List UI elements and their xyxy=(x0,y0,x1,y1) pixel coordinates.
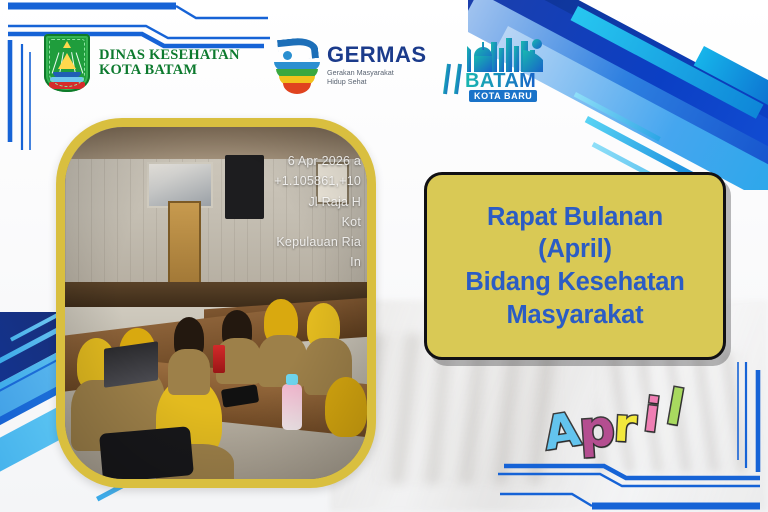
germas-tagline-1: Gerakan Masyarakat xyxy=(327,68,427,77)
logo-dinas-kesehatan: DINAS KESEHATAN KOTA BATAM xyxy=(44,34,240,92)
germas-tagline-2: Hidup Sehat xyxy=(327,77,427,86)
title-card: Rapat Bulanan (April) Bidang Kesehatan M… xyxy=(424,172,726,360)
april-letter: p xyxy=(577,399,617,459)
batam-wordmark: BATAM xyxy=(465,71,536,91)
april-letter: r xyxy=(613,397,638,452)
germas-figure-icon xyxy=(274,36,320,94)
logo-germas: GERMAS Gerakan Masyarakat Hidup Sehat xyxy=(274,36,427,94)
germas-title: GERMAS xyxy=(327,44,427,66)
batam-tagline: KOTA BARU xyxy=(469,90,537,102)
hashtag-icon xyxy=(441,62,467,96)
logo-batam-kota-baru: BATAM KOTA BARU xyxy=(439,36,549,102)
meeting-photo: 6 Apr 2026 a +1.105861,+10 Jl Raja H Kot… xyxy=(65,127,367,479)
header-logo-row: DINAS KESEHATAN KOTA BATAM GERMAS Geraka… xyxy=(44,34,544,108)
dinas-kesehatan-wordmark: DINAS KESEHATAN KOTA BATAM xyxy=(99,48,240,78)
april-letter: l xyxy=(662,379,688,437)
title-line-1: Rapat Bulanan xyxy=(465,201,684,234)
dinkes-line-2: KOTA BATAM xyxy=(99,63,240,78)
april-letter: i xyxy=(641,387,663,443)
title-line-3: Bidang Kesehatan xyxy=(465,266,684,299)
germas-wordmark: GERMAS Gerakan Masyarakat Hidup Sehat xyxy=(327,44,427,86)
meeting-photo-frame: 6 Apr 2026 a +1.105861,+10 Jl Raja H Kot… xyxy=(56,118,376,488)
title-line-4: Masyarakat xyxy=(465,299,684,332)
dinkes-line-1: DINAS KESEHATAN xyxy=(99,48,240,63)
batam-city-shield-icon xyxy=(44,34,90,92)
poster-canvas: DINAS KESEHATAN KOTA BATAM GERMAS Geraka… xyxy=(0,0,768,512)
april-sticker: A p r i l xyxy=(540,384,710,450)
page-title: Rapat Bulanan (April) Bidang Kesehatan M… xyxy=(465,201,684,332)
title-line-2: (April) xyxy=(465,233,684,266)
